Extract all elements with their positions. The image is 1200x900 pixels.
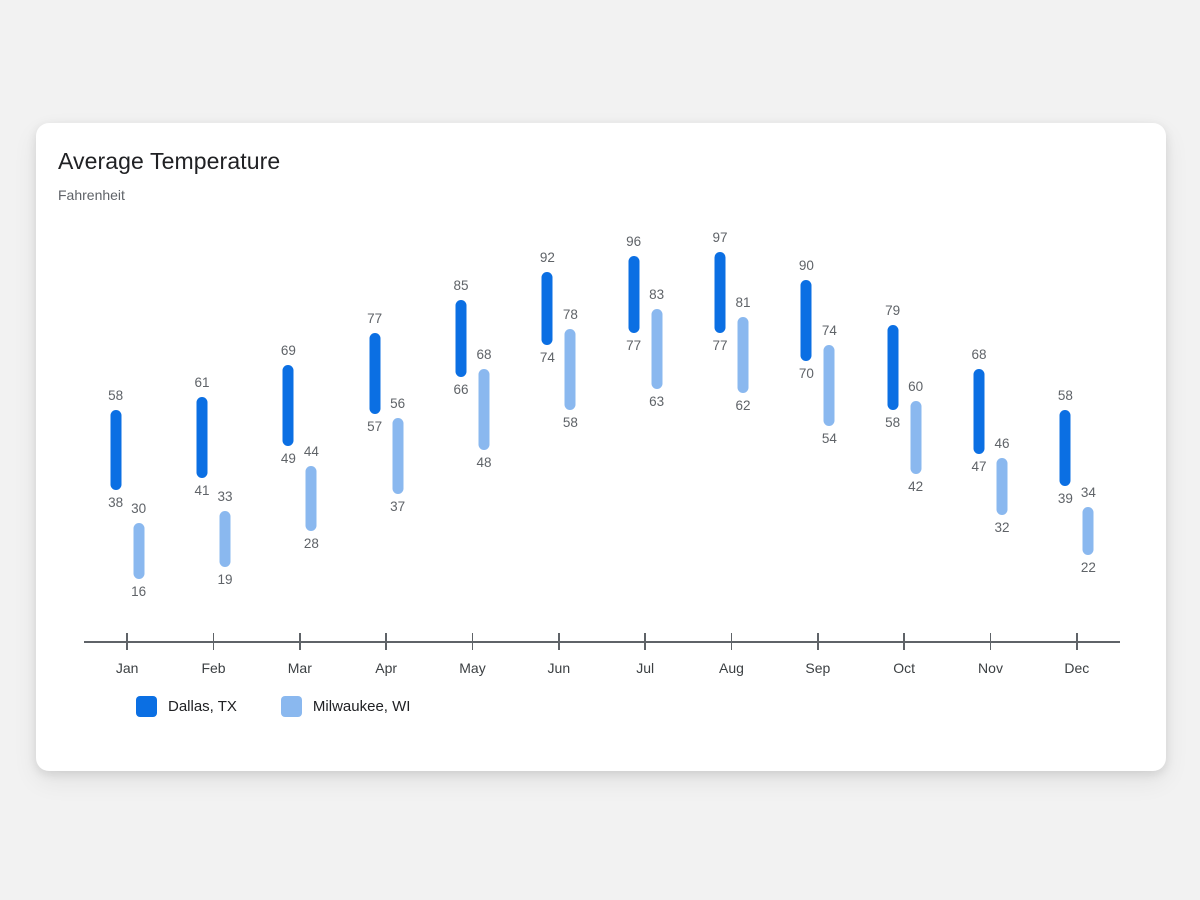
bar-high-value-label: 96	[626, 234, 641, 249]
x-axis-label-apr: Apr	[375, 660, 397, 676]
range-bar[interactable]	[887, 325, 898, 410]
range-bar[interactable]	[197, 397, 208, 478]
legend-swatch-icon	[136, 696, 157, 717]
bar-low-value-label: 42	[908, 479, 923, 494]
range-bar[interactable]	[715, 252, 726, 333]
x-axis-tick	[644, 633, 646, 650]
x-axis-tick	[299, 633, 301, 650]
range-bar[interactable]	[565, 329, 576, 410]
chart-legend: Dallas, TXMilwaukee, WI	[136, 696, 410, 717]
bar-low-value-label: 77	[712, 338, 727, 353]
bar-low-value-label: 66	[453, 382, 468, 397]
range-bar[interactable]	[542, 272, 553, 345]
x-axis-label-aug: Aug	[719, 660, 744, 676]
bar-low-value-label: 38	[108, 495, 123, 510]
bar-high-value-label: 60	[908, 379, 923, 394]
legend-item[interactable]: Milwaukee, WI	[281, 696, 411, 717]
bar-low-value-label: 58	[563, 415, 578, 430]
range-bar[interactable]	[910, 401, 921, 474]
x-axis-label-mar: Mar	[288, 660, 312, 676]
bar-low-value-label: 48	[476, 455, 491, 470]
bar-low-value-label: 37	[390, 499, 405, 514]
x-axis-tick	[558, 633, 560, 650]
range-bar[interactable]	[306, 466, 317, 531]
x-axis-line	[84, 641, 1120, 643]
x-axis-tick	[817, 633, 819, 650]
bar-low-value-label: 63	[649, 394, 664, 409]
x-axis-tick	[472, 633, 474, 650]
bar-high-value-label: 85	[453, 278, 468, 293]
bar-low-value-label: 49	[281, 451, 296, 466]
x-axis-label-oct: Oct	[893, 660, 915, 676]
bar-high-value-label: 74	[822, 323, 837, 338]
range-bar[interactable]	[997, 458, 1008, 515]
legend-item[interactable]: Dallas, TX	[136, 696, 237, 717]
range-bar[interactable]	[824, 345, 835, 426]
bar-high-value-label: 97	[712, 230, 727, 245]
bar-high-value-label: 78	[563, 307, 578, 322]
x-axis-tick	[903, 633, 905, 650]
bar-low-value-label: 28	[304, 536, 319, 551]
range-bar[interactable]	[479, 369, 490, 450]
x-axis-label-nov: Nov	[978, 660, 1003, 676]
bar-high-value-label: 79	[885, 303, 900, 318]
bar-low-value-label: 39	[1058, 491, 1073, 506]
bar-high-value-label: 58	[1058, 388, 1073, 403]
bar-low-value-label: 41	[194, 483, 209, 498]
bar-high-value-label: 61	[194, 375, 209, 390]
bar-high-value-label: 81	[735, 295, 750, 310]
bar-high-value-label: 34	[1081, 485, 1096, 500]
x-axis-tick	[213, 633, 215, 650]
range-bar[interactable]	[392, 418, 403, 495]
bar-high-value-label: 30	[131, 501, 146, 516]
bar-high-value-label: 68	[971, 347, 986, 362]
legend-label: Milwaukee, WI	[313, 698, 411, 715]
bar-high-value-label: 83	[649, 287, 664, 302]
bar-low-value-label: 32	[994, 520, 1009, 535]
range-bar[interactable]	[1060, 410, 1071, 487]
x-axis-tick	[126, 633, 128, 650]
bar-low-value-label: 16	[131, 584, 146, 599]
bar-low-value-label: 47	[971, 459, 986, 474]
range-bar[interactable]	[133, 523, 144, 580]
bar-high-value-label: 90	[799, 258, 814, 273]
chart-card: Average Temperature Fahrenheit Jan583830…	[36, 123, 1166, 771]
range-bar[interactable]	[801, 280, 812, 361]
bar-high-value-label: 92	[540, 250, 555, 265]
bar-high-value-label: 77	[367, 311, 382, 326]
range-bar[interactable]	[283, 365, 294, 446]
bar-high-value-label: 58	[108, 388, 123, 403]
x-axis-label-feb: Feb	[201, 660, 225, 676]
range-bar[interactable]	[974, 369, 985, 454]
range-bar[interactable]	[1083, 507, 1094, 555]
bar-low-value-label: 77	[626, 338, 641, 353]
bar-high-value-label: 33	[217, 489, 232, 504]
bar-low-value-label: 54	[822, 431, 837, 446]
bar-high-value-label: 68	[476, 347, 491, 362]
x-axis-label-may: May	[459, 660, 485, 676]
legend-swatch-icon	[281, 696, 302, 717]
bar-low-value-label: 57	[367, 419, 382, 434]
x-axis-label-jan: Jan	[116, 660, 139, 676]
x-axis-tick	[385, 633, 387, 650]
range-bar[interactable]	[456, 300, 467, 377]
bar-high-value-label: 56	[390, 396, 405, 411]
bar-high-value-label: 69	[281, 343, 296, 358]
bar-low-value-label: 22	[1081, 560, 1096, 575]
bar-low-value-label: 19	[217, 572, 232, 587]
x-axis-tick	[1076, 633, 1078, 650]
bar-high-value-label: 44	[304, 444, 319, 459]
x-axis-tick	[731, 633, 733, 650]
legend-label: Dallas, TX	[168, 698, 237, 715]
range-bar[interactable]	[220, 511, 231, 568]
range-bar[interactable]	[651, 309, 662, 390]
bar-low-value-label: 58	[885, 415, 900, 430]
range-bar[interactable]	[628, 256, 639, 333]
x-axis-label-jun: Jun	[548, 660, 571, 676]
bar-low-value-label: 62	[735, 398, 750, 413]
bar-high-value-label: 46	[994, 436, 1009, 451]
range-bar[interactable]	[369, 333, 380, 414]
range-bar[interactable]	[738, 317, 749, 394]
chart-plot-area: Jan58383016Feb61413319Mar69494428Apr7757…	[36, 123, 1166, 771]
x-axis-label-jul: Jul	[636, 660, 654, 676]
bar-low-value-label: 70	[799, 366, 814, 381]
bar-low-value-label: 74	[540, 350, 555, 365]
x-axis-label-sep: Sep	[805, 660, 830, 676]
range-bar[interactable]	[110, 410, 121, 491]
x-axis-label-dec: Dec	[1064, 660, 1089, 676]
x-axis-tick	[990, 633, 992, 650]
